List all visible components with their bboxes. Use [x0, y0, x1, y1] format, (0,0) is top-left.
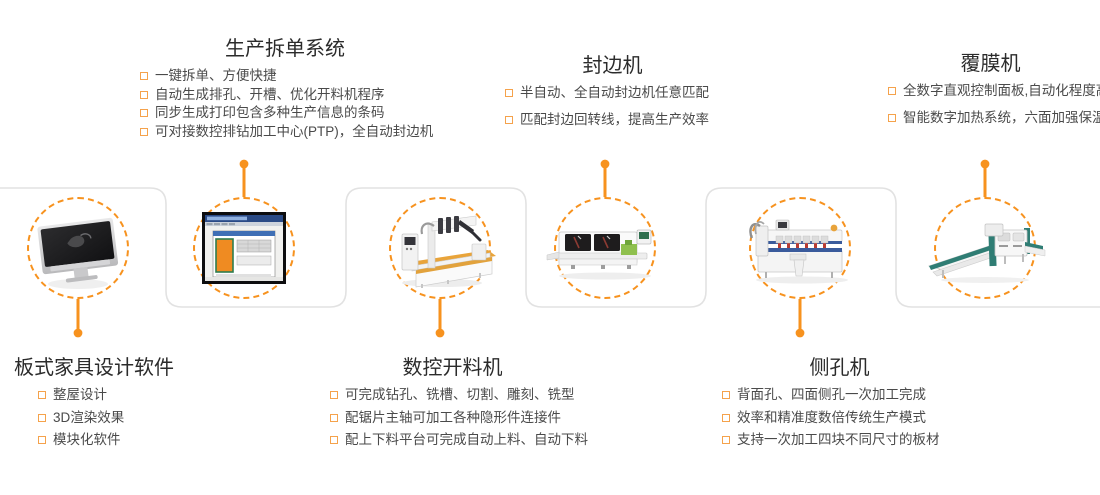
callout-title-splitting-system: 生产拆单系统 — [140, 38, 430, 60]
callout-design-software: 板式家具设计软件 整屋设计 3D渲染效果 模块化软件 — [14, 357, 174, 456]
callout-edge-bander: 封边机 半自动、全自动封边机任意匹配 匹配封边回转线，提高生产效率 — [505, 55, 720, 139]
list-item: 智能数字加热系统，六面加强保温 — [888, 111, 1100, 125]
laminating-machine-icon — [921, 200, 1049, 296]
list-item: 半自动、全自动封边机任意匹配 — [505, 86, 720, 100]
node-splitting-system[interactable] — [193, 197, 295, 299]
list-item: 背面孔、四面侧孔一次加工完成 — [722, 388, 957, 402]
cnc-router-machine-icon — [376, 200, 504, 296]
list-item: 支持一次加工四块不同尺寸的板材 — [722, 433, 957, 447]
list-item: 配锯片主轴可加工各种隐形件连接件 — [330, 411, 588, 425]
bullet-square-icon — [505, 116, 513, 124]
callout-title-cnc-router: 数控开料机 — [330, 357, 575, 379]
bullet-square-icon — [722, 414, 730, 422]
list-item: 全数字直观控制面板,自动化程度高 — [888, 84, 1100, 98]
bullet-list-splitting-system: 一键拆单、方便快捷 自动生成排孔、开槽、优化开料机程序 同步生成打印包含多种生产… — [140, 69, 433, 138]
list-item: 可完成钻孔、铣槽、切割、雕刻、铣型 — [330, 388, 588, 402]
node-edge-bander[interactable] — [554, 197, 656, 299]
imac-monitor-icon — [14, 200, 142, 296]
list-item: 同步生成打印包含多种生产信息的条码 — [140, 106, 433, 120]
bullet-square-icon — [888, 114, 896, 122]
callout-cnc-router: 数控开料机 可完成钻孔、铣槽、切割、雕刻、铣型 配锯片主轴可加工各种隐形件连接件… — [330, 357, 588, 456]
bullet-square-icon — [330, 414, 338, 422]
infographic-canvas: 生产拆单系统 一键拆单、方便快捷 自动生成排孔、开槽、优化开料机程序 同步生成打… — [0, 0, 1100, 495]
side-hole-machine-icon — [736, 200, 864, 296]
list-item: 可对接数控排钻加工中心(PTP)，全自动封边机 — [140, 125, 433, 139]
bullet-square-icon — [330, 436, 338, 444]
list-item: 3D渲染效果 — [38, 411, 174, 425]
list-item: 自动生成排孔、开槽、优化开料机程序 — [140, 88, 433, 102]
node-cnc-router[interactable] — [389, 197, 491, 299]
bullet-square-icon — [140, 72, 148, 80]
bullet-list-design-software: 整屋设计 3D渲染效果 模块化软件 — [38, 388, 174, 447]
callout-title-laminator: 覆膜机 — [888, 53, 1093, 75]
bullet-list-edge-bander: 半自动、全自动封边机任意匹配 匹配封边回转线，提高生产效率 — [505, 86, 720, 126]
list-item: 一键拆单、方便快捷 — [140, 69, 433, 83]
bullet-square-icon — [330, 391, 338, 399]
bullet-square-icon — [505, 89, 513, 97]
bullet-square-icon — [140, 109, 148, 117]
bullet-list-laminator: 全数字直观控制面板,自动化程度高 智能数字加热系统，六面加强保温 — [888, 84, 1100, 124]
list-item: 匹配封边回转线，提高生产效率 — [505, 113, 720, 127]
bullet-list-side-driller: 背面孔、四面侧孔一次加工完成 效率和精准度数倍传统生产模式 支持一次加工四块不同… — [722, 388, 957, 447]
callout-title-side-driller: 侧孔机 — [722, 357, 957, 379]
bullet-square-icon — [140, 128, 148, 136]
node-design-software[interactable] — [27, 197, 129, 299]
software-screen-icon — [180, 200, 308, 296]
callout-splitting-system: 生产拆单系统 一键拆单、方便快捷 自动生成排孔、开槽、优化开料机程序 同步生成打… — [140, 38, 433, 143]
bullet-list-cnc-router: 可完成钻孔、铣槽、切割、雕刻、铣型 配锯片主轴可加工各种隐形件连接件 配上下料平… — [330, 388, 588, 447]
bullet-square-icon — [722, 391, 730, 399]
callout-title-edge-bander: 封边机 — [505, 55, 720, 77]
callout-title-design-software: 板式家具设计软件 — [14, 357, 174, 379]
bullet-square-icon — [722, 436, 730, 444]
list-item: 整屋设计 — [38, 388, 174, 402]
bullet-square-icon — [888, 87, 896, 95]
list-item: 效率和精准度数倍传统生产模式 — [722, 411, 957, 425]
bullet-square-icon — [38, 414, 46, 422]
bullet-square-icon — [38, 391, 46, 399]
callout-laminator: 覆膜机 全数字直观控制面板,自动化程度高 智能数字加热系统，六面加强保温 — [888, 53, 1100, 137]
node-laminator[interactable] — [934, 197, 1036, 299]
list-item: 模块化软件 — [38, 433, 174, 447]
edge-banding-machine-icon — [541, 200, 669, 296]
bullet-square-icon — [38, 436, 46, 444]
callout-side-driller: 侧孔机 背面孔、四面侧孔一次加工完成 效率和精准度数倍传统生产模式 支持一次加工… — [722, 357, 957, 456]
bullet-square-icon — [140, 91, 148, 99]
node-side-driller[interactable] — [749, 197, 851, 299]
list-item: 配上下料平台可完成自动上料、自动下料 — [330, 433, 588, 447]
